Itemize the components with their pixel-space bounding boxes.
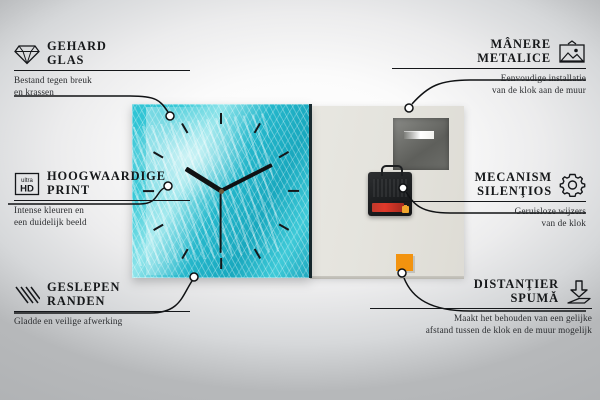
feature-underline [392, 68, 586, 69]
feature-subtitle-line2: van de klok [392, 218, 586, 229]
feature-subtitle-line1: Intense kleuren en [14, 205, 190, 216]
diamond-icon [14, 43, 40, 65]
feature-title-row: DISTANŢIER SPUMĂ [370, 278, 592, 305]
feature-title-text: HOOGWAARDIGE PRINT [47, 170, 166, 197]
feature-underline [14, 70, 190, 71]
feature-title-text: DISTANŢIER SPUMĂ [474, 278, 559, 305]
feature-title-text: GESLEPEN RANDEN [47, 281, 120, 308]
feature-underline [392, 201, 586, 202]
bevelled-edges-icon [14, 284, 40, 306]
feature-title-text: MÂNERE METALICE [477, 38, 551, 65]
feature-title-line2: GLAS [47, 54, 107, 68]
infographic-canvas: GEHARD GLAS Bestand tegen breuk en krass… [0, 0, 600, 400]
feature-title-line1: MECANISM [475, 171, 552, 185]
feature-title-line2: METALICE [477, 52, 551, 66]
feature-underline [14, 200, 190, 201]
feature-title-row: MÂNERE METALICE [392, 38, 586, 65]
feature-gehard-glas: GEHARD GLAS Bestand tegen breuk en krass… [14, 40, 190, 98]
feature-subtitle-line2: en krassen [14, 87, 190, 98]
feature-title-text: GEHARD GLAS [47, 40, 107, 67]
feature-title-row: ultra HD HOOGWAARDIGE PRINT [14, 170, 190, 197]
picture-hanger-icon [558, 40, 586, 64]
feature-hoogwaardige-print: ultra HD HOOGWAARDIGE PRINT Intense kleu… [14, 170, 190, 228]
feature-title-row: MECANISM SILENŢIOS [392, 171, 586, 198]
leader-dot-distantier-spuma [398, 269, 406, 277]
leader-dot-gehard-glas [166, 112, 174, 120]
feature-title-line1: DISTANŢIER [474, 278, 559, 292]
feature-underline [370, 308, 592, 309]
feature-title-line1: GESLEPEN [47, 281, 120, 295]
svg-text:HD: HD [20, 183, 34, 194]
feature-subtitle-line1: Gladde en veilige afwerking [14, 316, 190, 327]
feature-manere-metalice: MÂNERE METALICE Eenvoudige installatie v… [392, 38, 586, 96]
leader-dot-manere-metalice [405, 104, 413, 112]
feature-title-text: MECANISM SILENŢIOS [475, 171, 552, 198]
feature-subtitle-line2: afstand tussen de klok en de muur mogeli… [370, 325, 592, 336]
down-arrow-plate-icon [566, 279, 592, 305]
feature-subtitle-line1: Maakt het behouden van een gelijke [370, 313, 592, 324]
feature-distantier-spuma: DISTANŢIER SPUMĂ Maakt het behouden van … [370, 278, 592, 336]
ultra-hd-icon: ultra HD [14, 172, 40, 196]
feature-title-line1: GEHARD [47, 40, 107, 54]
feature-title-line2: SPUMĂ [474, 292, 559, 306]
feature-subtitle-line2: van de klok aan de muur [392, 85, 586, 96]
feature-title-row: GESLEPEN RANDEN [14, 281, 190, 308]
feature-title-line2: SILENŢIOS [475, 185, 552, 199]
feature-subtitle-line1: Geruisloze wijzers [392, 206, 586, 217]
feature-underline [14, 311, 190, 312]
feature-subtitle-line2: een duidelijk beeld [14, 217, 190, 228]
feature-title-row: GEHARD GLAS [14, 40, 190, 67]
feature-title-line1: MÂNERE [477, 38, 551, 52]
feature-subtitle-line1: Eenvoudige installatie [392, 73, 586, 84]
feature-subtitle-line1: Bestand tegen breuk [14, 75, 190, 86]
feature-title-line2: PRINT [47, 184, 166, 198]
feature-geslepen-randen: GESLEPEN RANDEN Gladde en veilige afwerk… [14, 281, 190, 328]
feature-mecanism-silentios: MECANISM SILENŢIOS Geruisloze wijzers va… [392, 171, 586, 229]
leader-dot-geslepen-randen [190, 273, 198, 281]
feature-title-line2: RANDEN [47, 295, 120, 309]
feature-title-line1: HOOGWAARDIGE [47, 170, 166, 184]
gear-icon [559, 172, 586, 198]
leader-gehard-glas [14, 96, 168, 112]
